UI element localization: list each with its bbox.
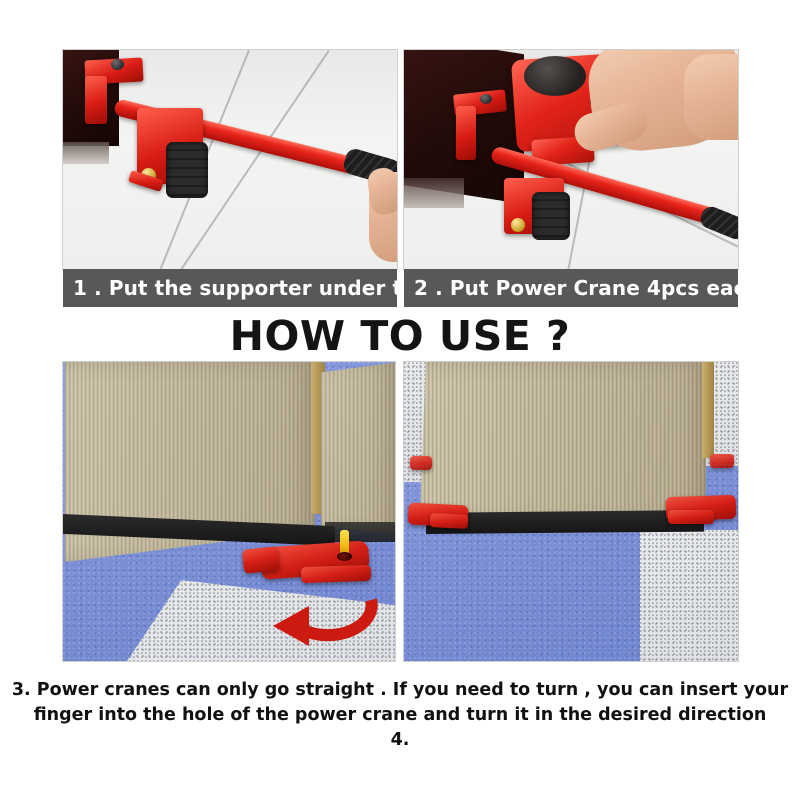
step-3-photo [63, 362, 395, 661]
lever-bolt-icon [111, 59, 124, 70]
power-crane-rear [410, 456, 432, 470]
forearm [684, 54, 738, 140]
cabinet-body [420, 362, 708, 522]
step-4-photo [404, 362, 738, 661]
lever-bolt-icon [480, 94, 492, 104]
cabinet-side [321, 362, 395, 534]
roller-axle-bolt-icon [511, 218, 525, 232]
power-crane-left-tab [430, 513, 469, 529]
power-crane-right-tab [668, 510, 714, 524]
lever-bracket-wall [456, 106, 476, 160]
furniture-base-shadow [404, 178, 464, 208]
roller-wheel [166, 142, 208, 198]
carpet-white-tile [640, 530, 738, 661]
power-crane-tab [242, 546, 280, 574]
cabinet-door-edge [702, 362, 714, 458]
instruction-line-3: 4. [0, 728, 800, 753]
crane-rubber-pad [524, 56, 586, 96]
page-title: HOW TO USE ? [0, 312, 800, 360]
step-1-photo [63, 50, 397, 269]
furniture-shadow [63, 142, 109, 164]
roller-wheel [532, 192, 570, 240]
crane-finger-hole [337, 552, 352, 561]
turn-direction-arrow-icon [269, 584, 389, 661]
step-2-photo [404, 50, 738, 269]
instruction-sheet: 1 . Put the supporter under to [0, 0, 800, 800]
instruction-line-1: 3. Power cranes can only go straight . I… [0, 678, 800, 703]
step-2-caption: 2 . Put Power Crane 4pcs each [404, 269, 738, 307]
power-crane-rear [710, 454, 734, 468]
instruction-line-2: finger into the hole of the power crane … [0, 703, 800, 728]
power-crane-tab [301, 565, 372, 583]
step-3-scene [63, 362, 395, 661]
step-1-caption: 1 . Put the supporter under to [63, 269, 397, 307]
step-2-scene [404, 50, 738, 269]
step-4-scene [404, 362, 738, 661]
step-1-scene [63, 50, 397, 269]
cabinet-base-shadow [325, 522, 395, 542]
instruction-text: 3. Power cranes can only go straight . I… [0, 678, 800, 753]
lever-bracket-wall [85, 76, 107, 124]
